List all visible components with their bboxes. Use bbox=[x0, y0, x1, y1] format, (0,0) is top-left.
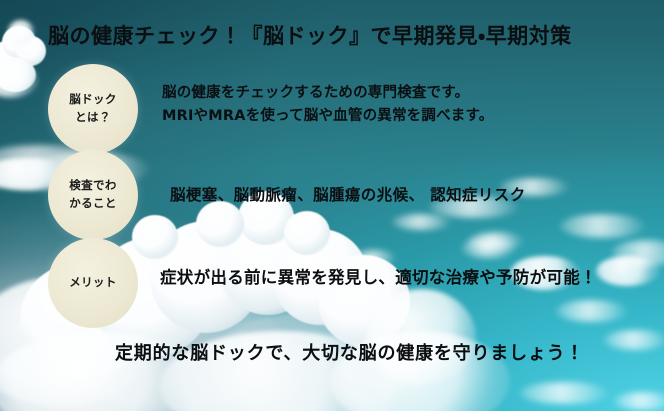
row1-text-line1: 脳の健康をチェックするための専門検査です。 bbox=[162, 82, 493, 105]
slide-canvas: 脳の健康チェック！『脳ドック』で早期発見・早期対策 脳ドック とは？ 脳の健康を… bbox=[0, 0, 664, 411]
row-description-merits: 症状が出る前に異常を発見し、適切な治療や予防が可能！ bbox=[160, 264, 597, 288]
badge-merits[interactable]: メリット bbox=[48, 238, 138, 328]
page-title: 脳の健康チェック！『脳ドック』で早期発見・早期対策 bbox=[48, 20, 572, 50]
badge-label-line1: 脳ドック bbox=[69, 91, 117, 109]
badge-label-line2: とは？ bbox=[75, 109, 111, 127]
badge-label-line1: メリット bbox=[69, 274, 117, 292]
badge-label-line1: 検査でわ bbox=[69, 177, 117, 195]
footer-call-to-action: 定期的な脳ドックで、大切な脳の健康を守りましょう！ bbox=[115, 339, 584, 365]
row1-text-line2: MRIやMRAを使って脳や血管の異常を調べます。 bbox=[162, 105, 493, 128]
row3-text-line1: 症状が出る前に異常を発見し、適切な治療や予防が可能！ bbox=[160, 264, 597, 288]
row2-text-line1: 脳梗塞、脳動脈瘤、脳腫瘍の兆候、 認知症リスク bbox=[170, 183, 526, 205]
row-description-findings: 脳梗塞、脳動脈瘤、脳腫瘍の兆候、 認知症リスク bbox=[170, 183, 526, 205]
badge-brain-dock-definition[interactable]: 脳ドック とは？ bbox=[48, 64, 138, 154]
row-description-definition: 脳の健康をチェックするための専門検査です。 MRIやMRAを使って脳や血管の異常… bbox=[162, 82, 493, 129]
badge-findings[interactable]: 検査でわ かること bbox=[48, 150, 138, 240]
badge-label-line2: かること bbox=[69, 195, 117, 213]
